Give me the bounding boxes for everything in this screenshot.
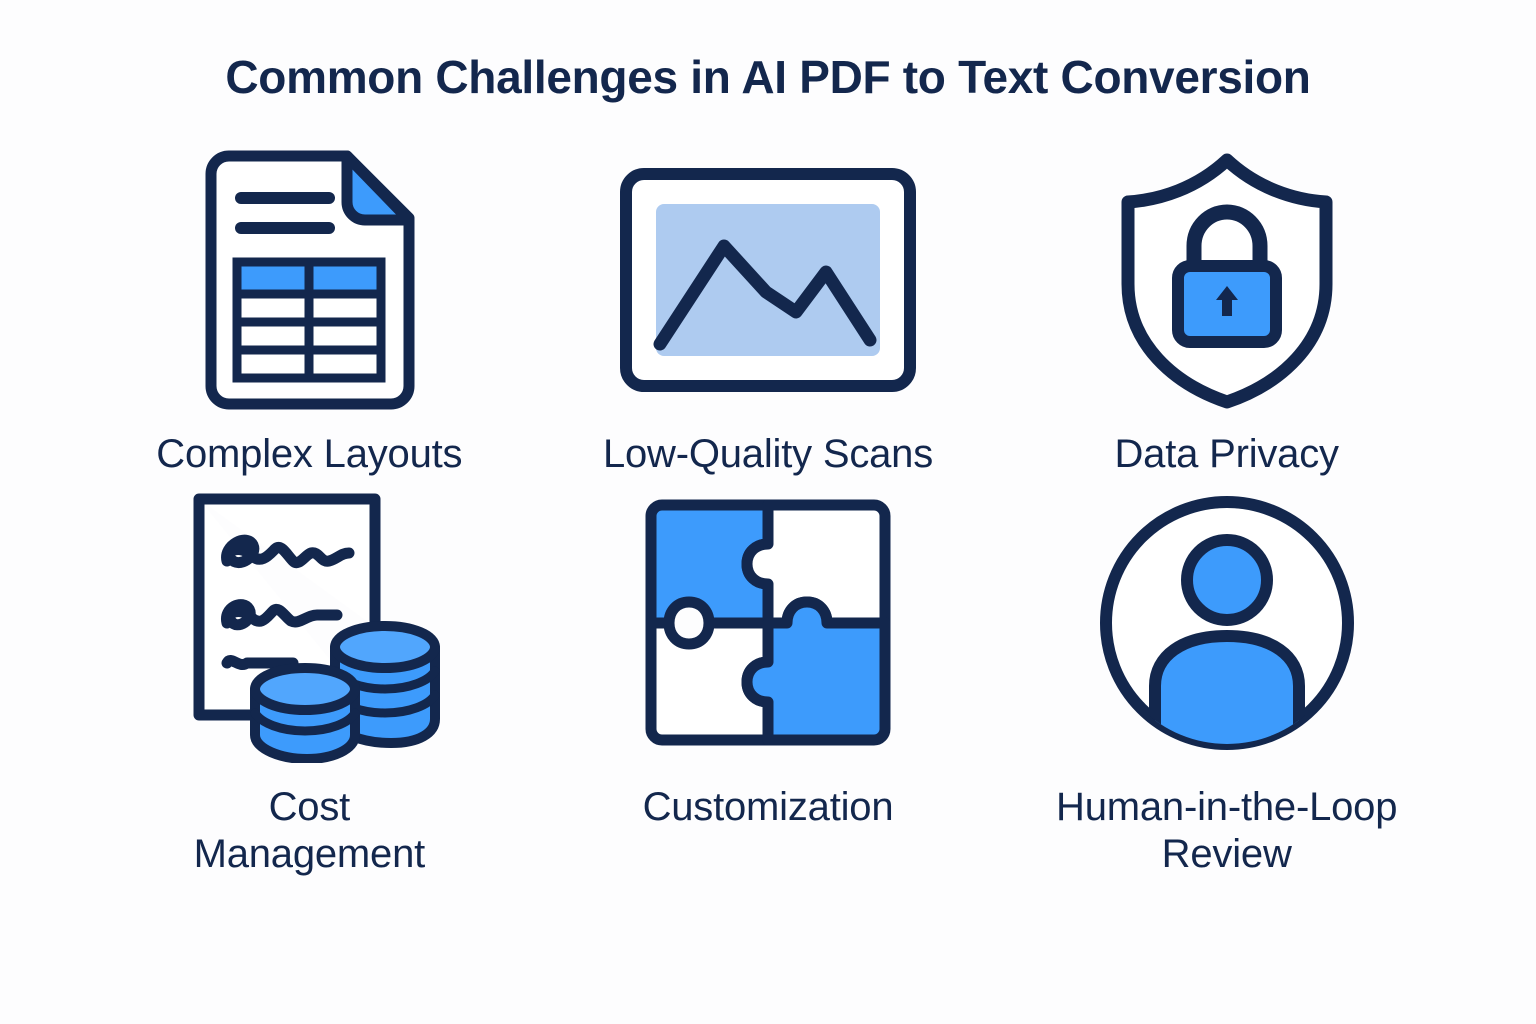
challenge-label: Complex Layouts xyxy=(156,431,462,478)
icon-container xyxy=(633,478,903,768)
user-avatar-icon xyxy=(1092,488,1362,758)
challenge-label: Data Privacy xyxy=(1114,431,1338,478)
challenge-card-customization: Customization xyxy=(539,478,998,878)
puzzle-pieces-icon xyxy=(633,488,903,758)
shield-lock-icon xyxy=(1102,150,1352,410)
challenge-card-human-in-the-loop-review: Human-in-the-Loop Review xyxy=(997,478,1456,878)
challenge-card-data-privacy: Data Privacy xyxy=(997,148,1456,478)
icon-container xyxy=(1102,148,1352,413)
challenge-label: Cost Management xyxy=(194,784,425,878)
icon-container xyxy=(618,148,918,413)
scanned-image-icon xyxy=(618,160,918,400)
icon-container xyxy=(169,478,449,768)
document-table-icon xyxy=(189,150,429,410)
icon-container xyxy=(189,148,429,413)
page-title: Common Challenges in AI PDF to Text Conv… xyxy=(0,52,1536,103)
challenge-grid: Complex Layouts Low-Quality Scans xyxy=(80,148,1456,878)
challenge-label: Human-in-the-Loop Review xyxy=(1056,784,1397,878)
icon-container xyxy=(1092,478,1362,768)
infographic-page: Common Challenges in AI PDF to Text Conv… xyxy=(0,0,1536,1024)
challenge-label: Customization xyxy=(643,784,894,831)
challenge-card-cost-management: Cost Management xyxy=(80,478,539,878)
challenge-card-complex-layouts: Complex Layouts xyxy=(80,148,539,478)
challenge-label: Low-Quality Scans xyxy=(603,431,933,478)
challenge-card-low-quality-scans: Low-Quality Scans xyxy=(539,148,998,478)
invoice-coins-icon xyxy=(169,483,449,763)
